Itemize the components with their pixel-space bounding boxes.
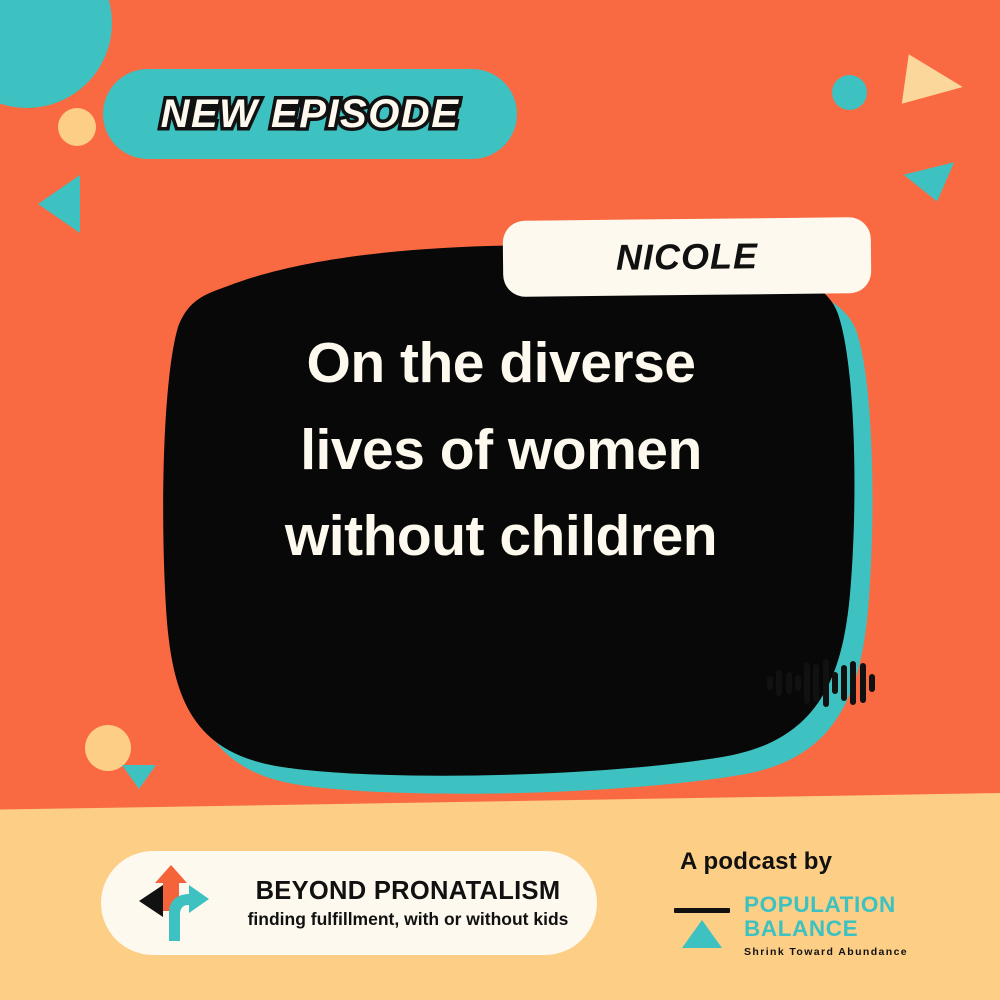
waveform-bar-2	[776, 670, 782, 696]
podcast-promo-poster: NEW EPISODE NICOLE On the diverse lives …	[0, 0, 1000, 1000]
waveform-bar-5	[804, 662, 810, 704]
waveform-bar-7	[823, 659, 829, 707]
waveform-bar-1	[767, 676, 773, 690]
headline-line-3: without children	[196, 493, 806, 580]
podcast-brand-badge: BEYOND PRONATALISM finding fulfillment, …	[101, 851, 597, 955]
waveform-bar-6	[813, 664, 819, 702]
credit-block: A podcast by POPULATION BALANCE Shrink T…	[672, 848, 932, 958]
org-name-line-2: BALANCE	[744, 917, 908, 941]
org-name-line-1: POPULATION	[744, 893, 908, 917]
org-tagline: Shrink Toward Abundance	[744, 946, 908, 958]
podcast-title: BEYOND PRONATALISM	[256, 876, 561, 907]
podcast-tagline: finding fulfillment, with or without kid…	[248, 909, 569, 930]
triangle-balance-mark-icon	[672, 898, 732, 950]
waveform-bar-10	[850, 661, 856, 705]
headline-line-2: lives of women	[196, 407, 806, 494]
population-balance-wordmark: POPULATION BALANCE Shrink Toward Abundan…	[744, 893, 908, 958]
waveform-bar-8	[832, 672, 838, 694]
a-podcast-by-label: A podcast by	[680, 848, 932, 876]
waveform-bar-11	[860, 663, 866, 703]
new-episode-label: NEW EPISODE	[161, 92, 460, 137]
three-way-arrows-icon	[123, 861, 219, 945]
waveform-bar-9	[841, 665, 847, 701]
waveform-bar-3	[786, 672, 792, 694]
headline-line-1: On the diverse	[196, 320, 806, 407]
episode-headline: On the diverse lives of women without ch…	[196, 320, 806, 580]
guest-name-label: NICOLE	[616, 235, 758, 278]
guest-name-badge: NICOLE	[503, 217, 872, 297]
population-balance-logo: POPULATION BALANCE Shrink Toward Abundan…	[672, 893, 932, 958]
podcast-brand-text: BEYOND PRONATALISM finding fulfillment, …	[233, 876, 597, 931]
waveform-bar-4	[795, 675, 801, 691]
new-episode-badge: NEW EPISODE	[103, 69, 517, 159]
audio-waveform-icon	[767, 655, 875, 711]
waveform-bar-12	[869, 674, 875, 692]
